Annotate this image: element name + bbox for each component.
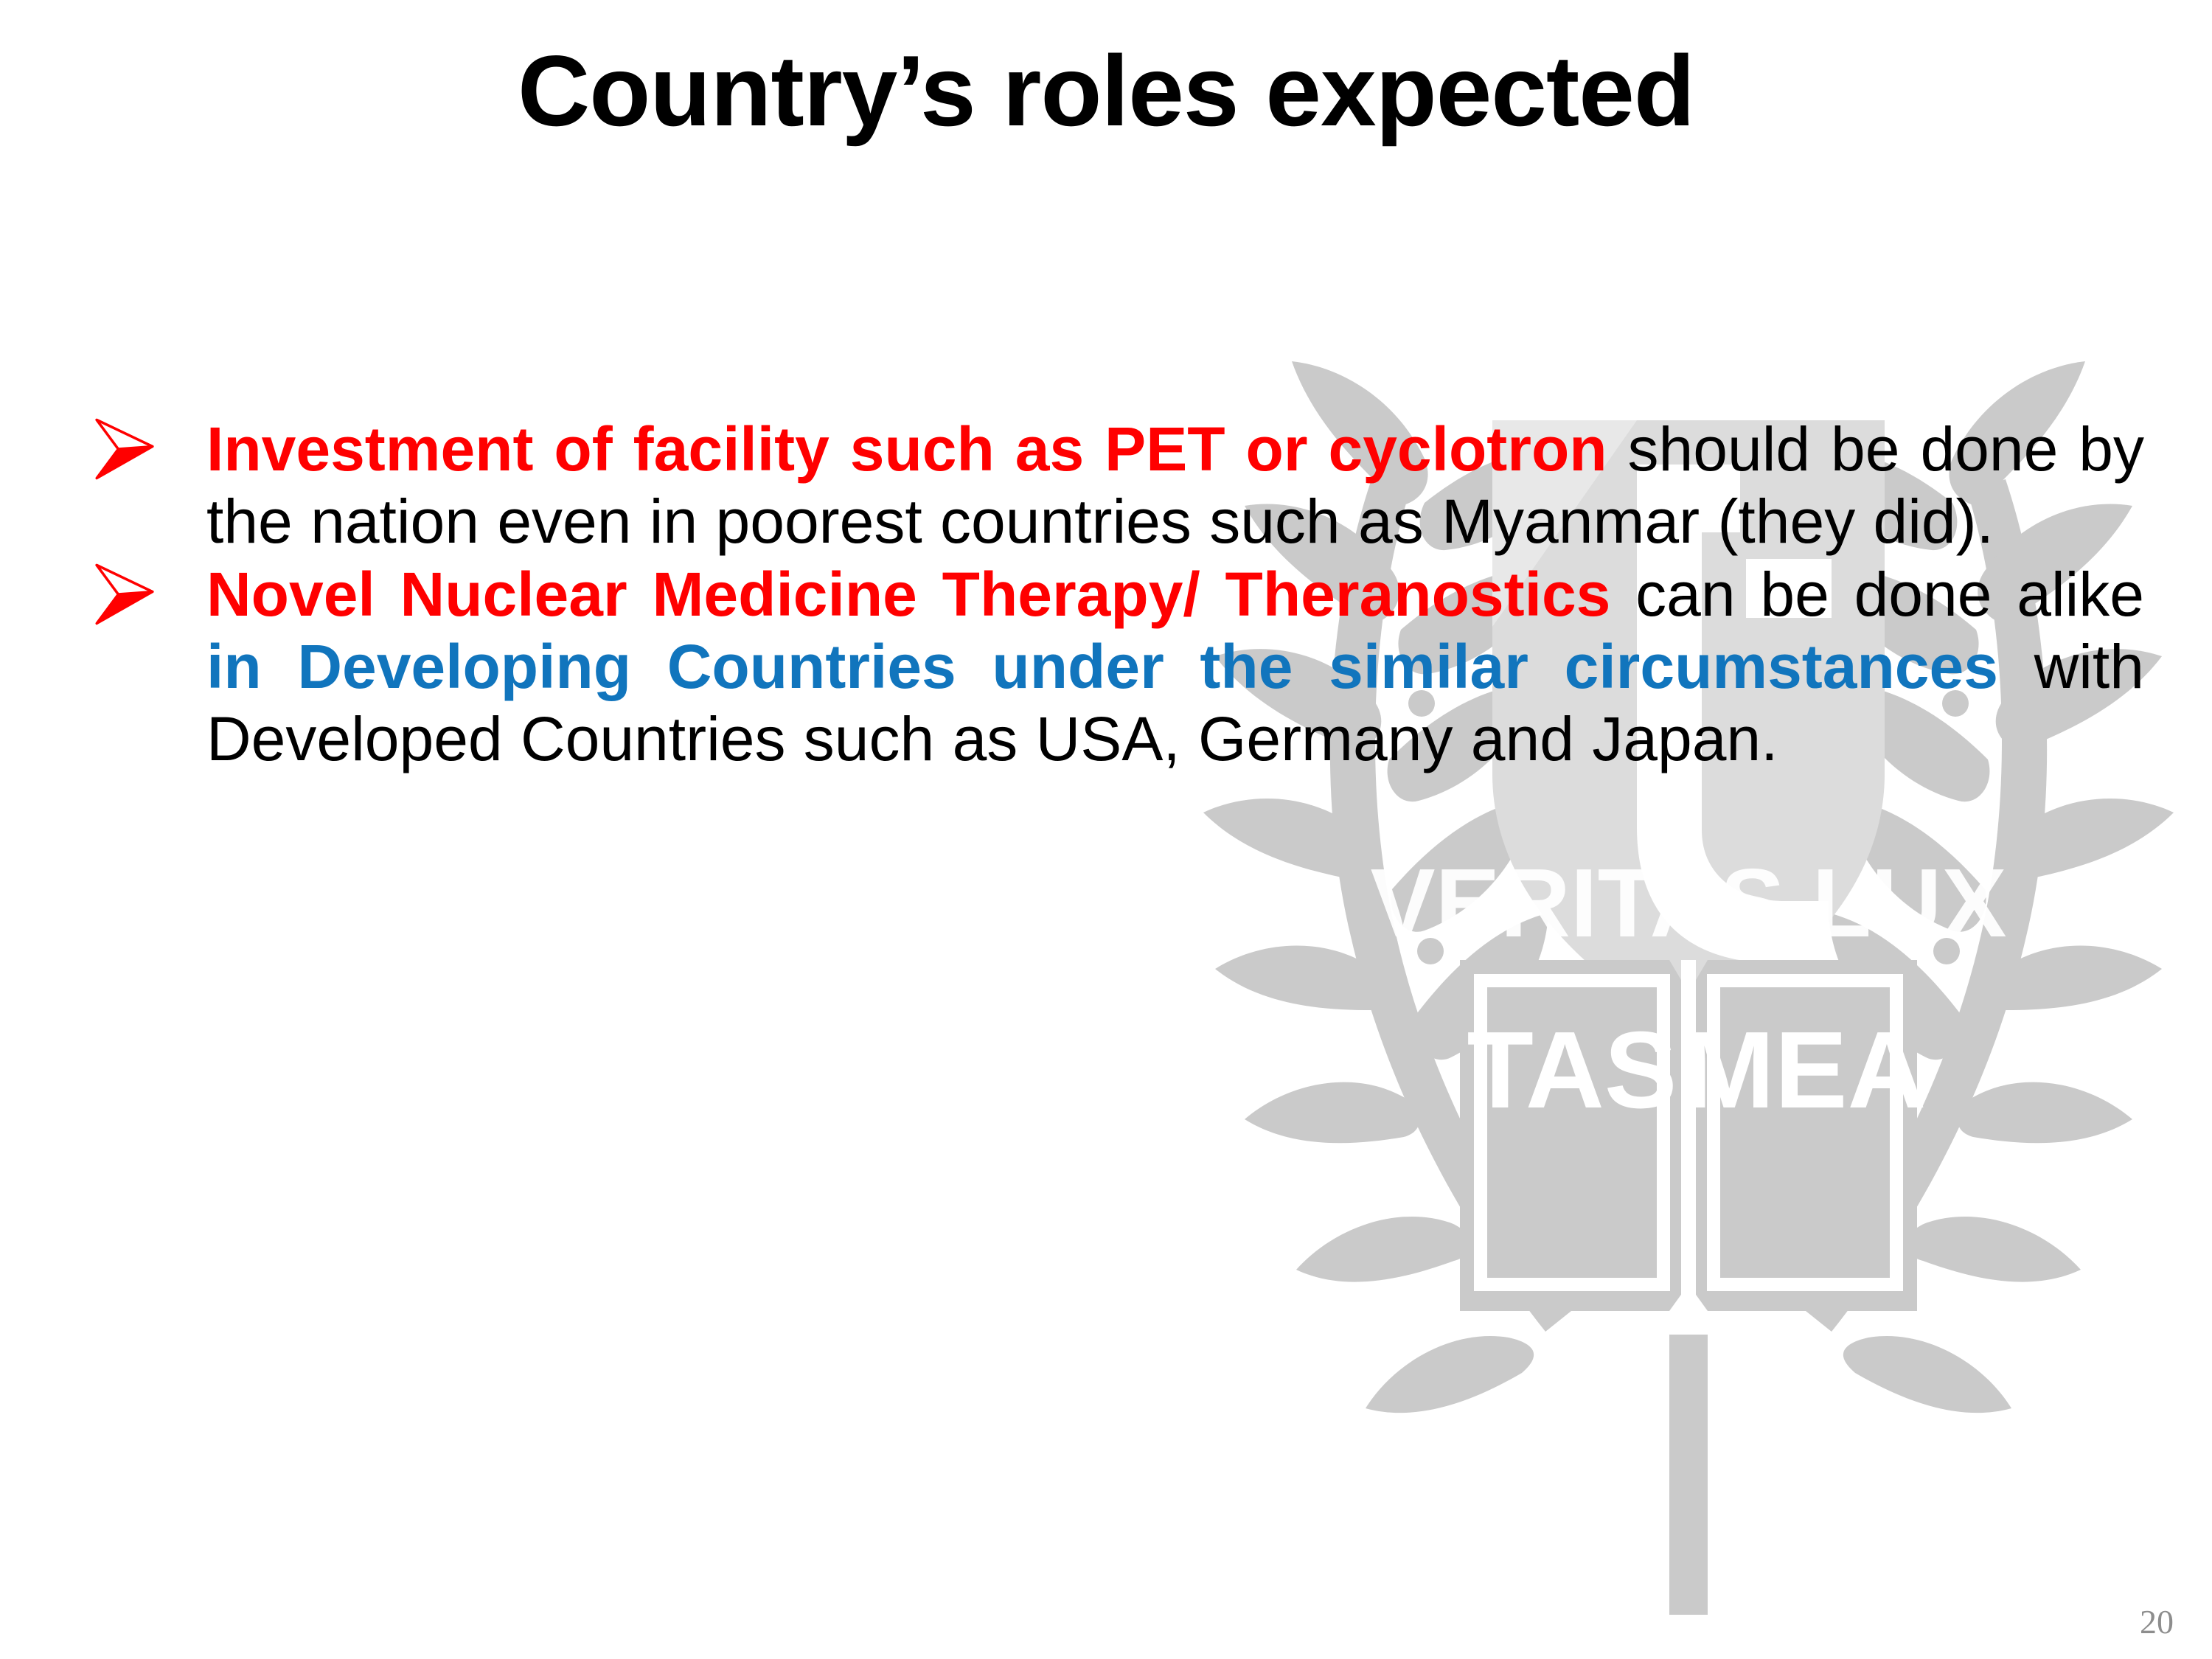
- bullet-item-1: Investment of facility such as PET or cy…: [87, 413, 2144, 558]
- bullet-1-text: Investment of facility such as PET or cy…: [206, 413, 2144, 558]
- slide-body: Investment of facility such as PET or cy…: [87, 413, 2144, 775]
- arrow-bullet-icon: [93, 563, 156, 626]
- crest-motto-band: VERITAS LUX: [1371, 849, 2007, 957]
- page-title: Country’s roles expected: [0, 38, 2212, 144]
- wreath-tie: [1669, 1335, 1708, 1615]
- bullet-1-seg-0: Investment of facility such as PET or cy…: [206, 414, 1607, 484]
- bullet-2-seg-2: in Developing Countries under the simila…: [206, 632, 1998, 701]
- bullet-item-2: Novel Nuclear Medicine Therapy/ Theranos…: [87, 558, 2144, 776]
- crest-book-left-text: TAS: [1467, 1009, 1677, 1131]
- arrow-bullet-icon: [93, 417, 156, 481]
- bullet-2-seg-0: Novel Nuclear Medicine Therapy/ Theranos…: [206, 560, 1610, 629]
- crest-book-right-text: MEA: [1684, 1009, 1927, 1131]
- crest-book: TAS MEA: [1460, 960, 1926, 1311]
- bullet-2-seg-1: can be done alike: [1610, 560, 2144, 629]
- page-number: 20: [2140, 1602, 2174, 1641]
- slide-canvas: TAS MEA VERITAS LUX Country’s roles expe…: [0, 0, 2212, 1659]
- bullet-2-text: Novel Nuclear Medicine Therapy/ Theranos…: [206, 558, 2144, 776]
- svg-text:VERITAS LUX: VERITAS LUX: [1371, 849, 2007, 957]
